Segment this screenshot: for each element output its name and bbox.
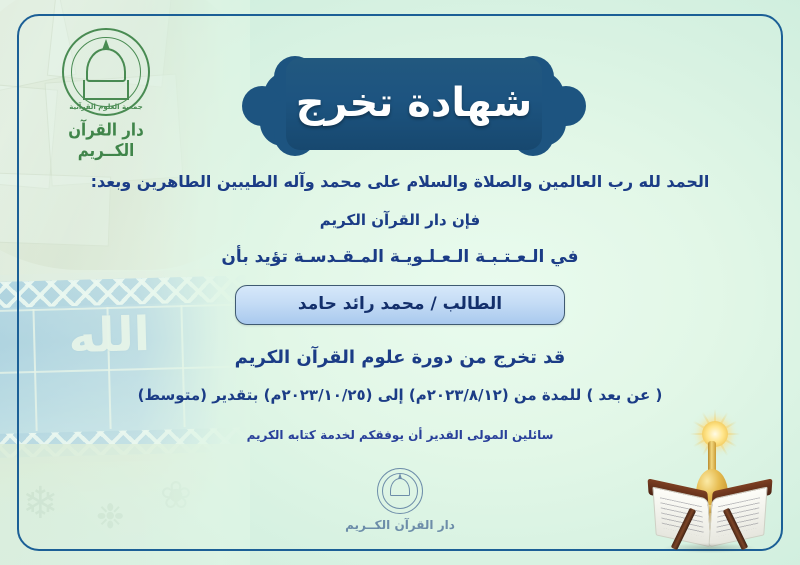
dates-and-grade-line: ( عن بعد ) للمدة من (٢٠٢٣/٨/١٢م) إلى (٢٠… — [0, 386, 800, 404]
title-banner: شهادة تخرج — [228, 52, 600, 156]
header-logo-caption: دار القرآن الكــريم — [46, 119, 166, 160]
artwork-shadow — [664, 543, 756, 553]
seal-dome-icon — [86, 48, 126, 82]
certificate-page: الله ❄ ❉ ❀ جمعية العلوم القرآنية دار الق… — [0, 0, 800, 565]
seal-inner-text: جمعية العلوم القرآنية — [64, 103, 148, 111]
course-line: قد تخرج من دورة علوم القرآن الكريم — [0, 347, 800, 368]
student-name-box: الطالب / محمد رائد حامد — [235, 285, 565, 325]
organization-line-1: فإن دار القرآن الكريم — [0, 211, 800, 229]
student-name-text: الطالب / محمد رائد حامد — [236, 294, 564, 314]
certificate-body: الحمد لله رب العالمين والصلاة والسلام عل… — [0, 172, 800, 442]
footer-seal-icon — [377, 468, 423, 514]
seal-pillars-icon — [83, 80, 129, 100]
organization-line-2: في الـعـتـبـة الـعـلـويـة المـقـدسـة تؤي… — [0, 247, 800, 267]
certificate-title: شهادة تخرج — [228, 80, 600, 126]
header-logo: جمعية العلوم القرآنية دار القرآن الكــري… — [46, 28, 166, 163]
quran-on-rihal-illustration — [646, 419, 774, 551]
dar-al-quran-seal-icon: جمعية العلوم القرآنية — [62, 28, 150, 116]
footer-dome-icon — [390, 478, 410, 496]
praise-line: الحمد لله رب العالمين والصلاة والسلام عل… — [0, 172, 800, 191]
